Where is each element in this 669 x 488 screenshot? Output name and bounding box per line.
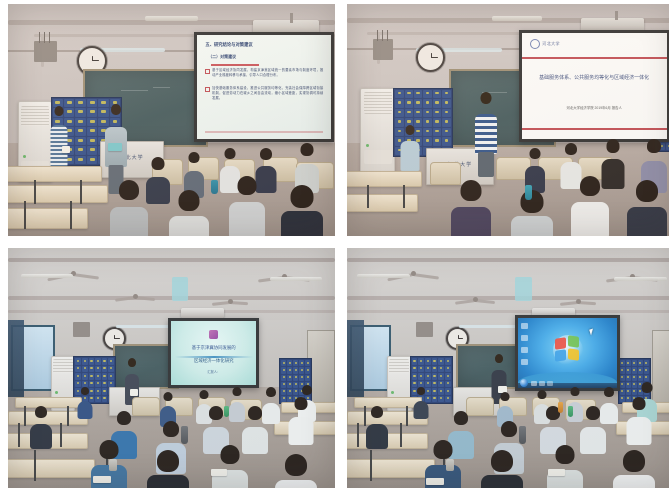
university-name: 河北大学 bbox=[542, 41, 560, 47]
desk-leg bbox=[67, 406, 69, 425]
ceiling-lamp bbox=[145, 16, 197, 21]
air-conditioner bbox=[360, 88, 395, 174]
slide-title-line-1: 基于京津冀协同发展的 bbox=[178, 345, 249, 351]
audience-member bbox=[270, 454, 322, 488]
desk-leg bbox=[370, 450, 372, 481]
audience-member bbox=[608, 450, 661, 488]
projector-hanger bbox=[515, 277, 532, 301]
ceiling-beam bbox=[8, 258, 335, 262]
slide-subtitle-text: 河北大学经济学院 2019年6月 报告人 bbox=[536, 105, 652, 110]
ac-grille bbox=[389, 359, 408, 373]
notebook bbox=[93, 476, 111, 483]
desk-leg bbox=[34, 180, 36, 203]
audience-member bbox=[24, 406, 57, 449]
person-seated-host bbox=[393, 125, 426, 176]
ac-led bbox=[366, 144, 369, 147]
audience-member bbox=[165, 190, 214, 236]
classroom-scene-3: 基于京津冀协同发展的 区域经济一体化研究 汇报人： 河北大学 bbox=[8, 248, 335, 488]
antenna-1 bbox=[39, 32, 40, 44]
presenter-papers bbox=[130, 389, 138, 396]
ceiling-lamp bbox=[614, 277, 667, 281]
person-speaker bbox=[96, 104, 135, 192]
ceiling-lamp bbox=[270, 277, 322, 281]
desk-row bbox=[8, 166, 102, 182]
projector-hanger bbox=[172, 277, 188, 301]
mouse-cursor-icon bbox=[589, 329, 595, 336]
desk-leg bbox=[18, 423, 20, 447]
fluorescent-tube bbox=[116, 325, 175, 328]
ceiling-pipe bbox=[347, 310, 669, 313]
desk-row bbox=[8, 185, 108, 203]
audience-member bbox=[621, 180, 669, 236]
slide-title-line-2: 区域经济一体化研究 bbox=[178, 358, 249, 364]
desk-row bbox=[347, 194, 418, 212]
antenna-2 bbox=[44, 32, 45, 44]
curtain bbox=[8, 320, 24, 397]
ceiling-fan bbox=[453, 294, 497, 304]
projection-screen[interactable]: 五、研究结论与对策建议 （二）对策建议 基于区域经济协同发展，构建京津冀区域统一… bbox=[194, 32, 334, 142]
ac-grille bbox=[364, 92, 392, 114]
ceiling-beam bbox=[347, 296, 669, 300]
slide-title-teal: 基于京津冀协同发展的 区域经济一体化研究 汇报人： bbox=[171, 321, 256, 386]
windows-logo-icon bbox=[553, 335, 583, 365]
host-head bbox=[405, 125, 414, 135]
slide-rule-bottom bbox=[205, 131, 323, 133]
desk-leg bbox=[24, 201, 26, 229]
audience-member bbox=[224, 176, 270, 236]
slide-rule-top bbox=[522, 57, 667, 59]
notebook bbox=[211, 469, 227, 476]
slide-bullet-2: 加快基础服务体系建设，推进公共服务均等化，完善社会保障跨区域衔接机制，促进劳动力… bbox=[212, 86, 323, 101]
ac-led bbox=[391, 391, 394, 394]
desk-leg bbox=[34, 450, 36, 481]
slide-heading-1: 五、研究结论与对策建议 bbox=[205, 42, 252, 48]
taskbar-item[interactable] bbox=[531, 381, 537, 386]
presenter-head bbox=[128, 358, 136, 367]
slide-subtitle: 汇报人： bbox=[178, 369, 249, 374]
slide-canvas: 五、研究结论与对策建议 （二）对策建议 基于区域经济协同发展，构建京津冀区域统一… bbox=[197, 35, 331, 139]
curtain bbox=[347, 320, 364, 397]
taskbar-item[interactable] bbox=[539, 381, 545, 386]
desk-row bbox=[8, 459, 95, 478]
ceiling-fan bbox=[210, 296, 250, 306]
cup bbox=[446, 459, 454, 471]
speaker-trousers bbox=[478, 152, 494, 177]
water-bottle bbox=[525, 185, 532, 200]
ceiling-beam bbox=[347, 258, 669, 262]
projection-screen[interactable] bbox=[515, 315, 620, 391]
classroom-scene-4: 河北大学 bbox=[347, 248, 669, 488]
water-bottle bbox=[224, 406, 229, 417]
slide-heading-2: （二）对策建议 bbox=[208, 54, 236, 60]
audience-member bbox=[360, 406, 393, 449]
speaker-head bbox=[111, 104, 121, 115]
audience-member bbox=[476, 450, 529, 488]
ceiling-fan bbox=[558, 296, 598, 306]
photo-bottom-right[interactable]: 河北大学 bbox=[347, 248, 669, 488]
assistant-papers bbox=[62, 146, 70, 153]
photo-grid: 五、研究结论与对策建议 （二）对策建议 基于区域经济协同发展，构建京津冀区域统一… bbox=[0, 0, 669, 484]
taskbar-item[interactable] bbox=[547, 381, 553, 386]
photo-top-right[interactable]: 河北大学 基础服务体系、公共服务均等化与区域经济一体化 河北大学经济学院 201… bbox=[347, 4, 669, 236]
host-torso bbox=[400, 141, 419, 171]
slide-bullet-marker bbox=[205, 69, 210, 74]
audience-member bbox=[519, 148, 552, 194]
audience-member bbox=[73, 387, 96, 421]
projection-screen[interactable]: 河北大学 基础服务体系、公共服务均等化与区域经济一体化 河北大学经济学院 201… bbox=[519, 30, 669, 143]
speaker-folder bbox=[108, 143, 122, 151]
photo-top-left[interactable]: 五、研究结论与对策建议 （二）对策建议 基于区域经济协同发展，构建京津冀区域统一… bbox=[8, 4, 335, 236]
university-seal-icon bbox=[530, 39, 540, 49]
slide-bullet-1: 基于区域经济协同发展，构建京津冀区域统一的要素市场与制度环境，推动产业梯度转移与… bbox=[212, 68, 323, 78]
audience-member bbox=[207, 445, 253, 488]
slide-title: 河北大学 基础服务体系、公共服务均等化与区域经济一体化 河北大学经济学院 201… bbox=[522, 33, 667, 140]
antenna-1 bbox=[377, 30, 378, 42]
slide-bulleted: 五、研究结论与对策建议 （二）对策建议 基于区域经济协同发展，构建京津冀区域统一… bbox=[197, 35, 331, 139]
slide-emblem-icon bbox=[209, 330, 218, 339]
desk-leg bbox=[80, 180, 82, 203]
photo-bottom-left[interactable]: 基于京津冀协同发展的 区域经济一体化研究 汇报人： 河北大学 bbox=[8, 248, 335, 488]
thermos-bottle bbox=[181, 426, 188, 444]
chalk-mark bbox=[121, 90, 148, 91]
antenna-3 bbox=[387, 30, 388, 42]
ac-led bbox=[23, 155, 26, 158]
windows7-desktop[interactable] bbox=[518, 318, 617, 388]
audience-member bbox=[446, 180, 496, 236]
projector-mount bbox=[615, 11, 618, 20]
slide-underline bbox=[211, 64, 259, 66]
projection-screen[interactable]: 基于京津冀协同发展的 区域经济一体化研究 汇报人： bbox=[168, 318, 259, 389]
desk-leg bbox=[60, 423, 62, 447]
presenter-head bbox=[495, 354, 503, 363]
classroom-scene-2: 河北大学 基础服务体系、公共服务均等化与区域经济一体化 河北大学经济学院 201… bbox=[347, 4, 669, 236]
desktop-icon-recycle-bin[interactable] bbox=[521, 335, 528, 341]
ceiling-pipe bbox=[8, 310, 335, 313]
audience-member bbox=[542, 445, 588, 488]
ceiling-lamp bbox=[357, 274, 410, 278]
projector bbox=[181, 308, 224, 318]
ceiling-lamp bbox=[492, 16, 542, 21]
antenna-2 bbox=[382, 30, 383, 42]
classroom-scene-1: 五、研究结论与对策建议 （二）对策建议 基于区域经济协同发展，构建京津冀区域统一… bbox=[8, 4, 335, 236]
antenna-3 bbox=[49, 32, 50, 44]
wall-box bbox=[373, 39, 393, 60]
audience-member bbox=[142, 450, 194, 488]
fluorescent-tube bbox=[459, 325, 518, 328]
audience-member bbox=[565, 176, 615, 236]
desktop-icon-computer[interactable] bbox=[521, 323, 528, 329]
desk-leg bbox=[400, 423, 402, 447]
water-bottle bbox=[568, 406, 573, 417]
speaker-torso bbox=[475, 114, 497, 154]
slide-canvas: 基于京津冀协同发展的 区域经济一体化研究 汇报人： bbox=[171, 321, 256, 386]
desk-leg bbox=[406, 406, 408, 425]
wall-box bbox=[416, 322, 433, 336]
slide-desktop bbox=[518, 318, 617, 388]
audience-member bbox=[283, 397, 319, 445]
audience-member bbox=[410, 387, 433, 421]
university-logo: 河北大学 bbox=[530, 39, 560, 49]
desktop-icon-folder[interactable] bbox=[521, 347, 528, 353]
desk-leg bbox=[357, 423, 359, 447]
person-assistant bbox=[44, 106, 73, 176]
wall-box bbox=[73, 322, 89, 336]
audience-member bbox=[276, 185, 328, 236]
desk-leg bbox=[367, 185, 369, 208]
desktop-icon-shortcut[interactable] bbox=[521, 359, 528, 365]
slide-canvas: 河北大学 基础服务体系、公共服务均等化与区域经济一体化 河北大学经济学院 201… bbox=[522, 33, 667, 140]
ceiling-lamp bbox=[21, 274, 73, 278]
start-orb-icon[interactable] bbox=[520, 379, 528, 387]
desk-leg bbox=[70, 201, 72, 229]
audience-member bbox=[621, 397, 657, 445]
assistant-head bbox=[54, 106, 63, 116]
ac-led bbox=[55, 391, 58, 394]
notebook bbox=[426, 478, 444, 485]
slide-title-text: 基础服务体系、公共服务均等化与区域经济一体化 bbox=[530, 75, 658, 83]
slide-bullet-marker bbox=[205, 87, 210, 92]
ac-grille bbox=[53, 359, 72, 373]
slide-rule-bottom bbox=[522, 128, 667, 130]
water-bottle bbox=[211, 180, 218, 194]
ceiling-fan bbox=[113, 291, 157, 301]
desk-row bbox=[8, 208, 88, 229]
wall-box bbox=[34, 41, 57, 62]
chalk-mark bbox=[153, 87, 170, 88]
thermos-bottle bbox=[519, 426, 526, 444]
speaker-head bbox=[480, 92, 491, 104]
desk-leg bbox=[403, 185, 405, 208]
ac-vent bbox=[364, 150, 392, 163]
notebook bbox=[548, 469, 565, 476]
projector-mount bbox=[290, 13, 293, 22]
audience-member bbox=[106, 180, 152, 236]
desk-row bbox=[347, 171, 422, 187]
cup bbox=[109, 459, 117, 471]
water-bottle bbox=[558, 402, 563, 413]
